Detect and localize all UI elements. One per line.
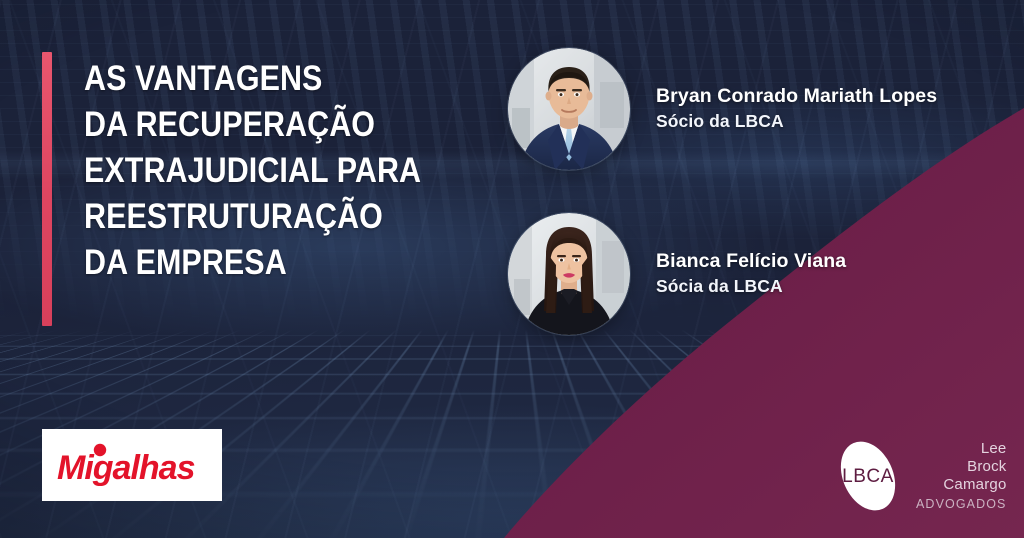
lbca-wordmark: Lee Brock Camargo ADVOGADOS: [916, 440, 1006, 513]
headline-line-4: REESTRUTURAÇÃO: [84, 194, 449, 240]
lbca-logo: LBCA Lee Brock Camargo ADVOGADOS: [826, 430, 1002, 522]
svg-text:Migalhas: Migalhas: [57, 449, 195, 487]
migalhas-wordmark-icon: Migalhas: [53, 443, 211, 487]
accent-bar: [42, 52, 52, 326]
speaker-card-2: Bianca Felício Viana Sócia da LBCA: [508, 213, 846, 335]
promo-banner: AS VANTAGENS DA RECUPERAÇÃO EXTRAJUDICIA…: [0, 0, 1024, 538]
speaker-name: Bianca Felício Viana: [656, 250, 846, 274]
speaker-info: Bryan Conrado Mariath Lopes Sócio da LBC…: [656, 85, 937, 132]
svg-text:LBCA: LBCA: [842, 466, 894, 487]
speaker-role: Sócio da LBCA: [656, 111, 937, 132]
lbca-word-3: Camargo: [916, 476, 1006, 494]
speaker-name: Bryan Conrado Mariath Lopes: [656, 85, 937, 109]
speaker-info: Bianca Felício Viana Sócia da LBCA: [656, 250, 846, 297]
avatar: [508, 213, 630, 335]
speaker-role: Sócia da LBCA: [656, 276, 846, 297]
headline-line-2: DA RECUPERAÇÃO: [84, 102, 449, 148]
lbca-word-1: Lee: [916, 440, 1006, 458]
lbca-word-2: Brock: [916, 458, 1006, 476]
avatar: [508, 48, 630, 170]
lbca-tagline: ADVOGADOS: [916, 495, 1006, 513]
lbca-monogram-icon: LBCA: [826, 434, 910, 518]
migalhas-logo: Migalhas Migalhas: [42, 429, 222, 501]
headline-line-1: AS VANTAGENS: [84, 56, 449, 102]
headline-line-3: EXTRAJUDICIAL PARA: [84, 148, 449, 194]
headline-line-5: DA EMPRESA: [84, 240, 449, 286]
speaker-card-1: Bryan Conrado Mariath Lopes Sócio da LBC…: [508, 48, 937, 170]
page-title: AS VANTAGENS DA RECUPERAÇÃO EXTRAJUDICIA…: [84, 56, 449, 286]
